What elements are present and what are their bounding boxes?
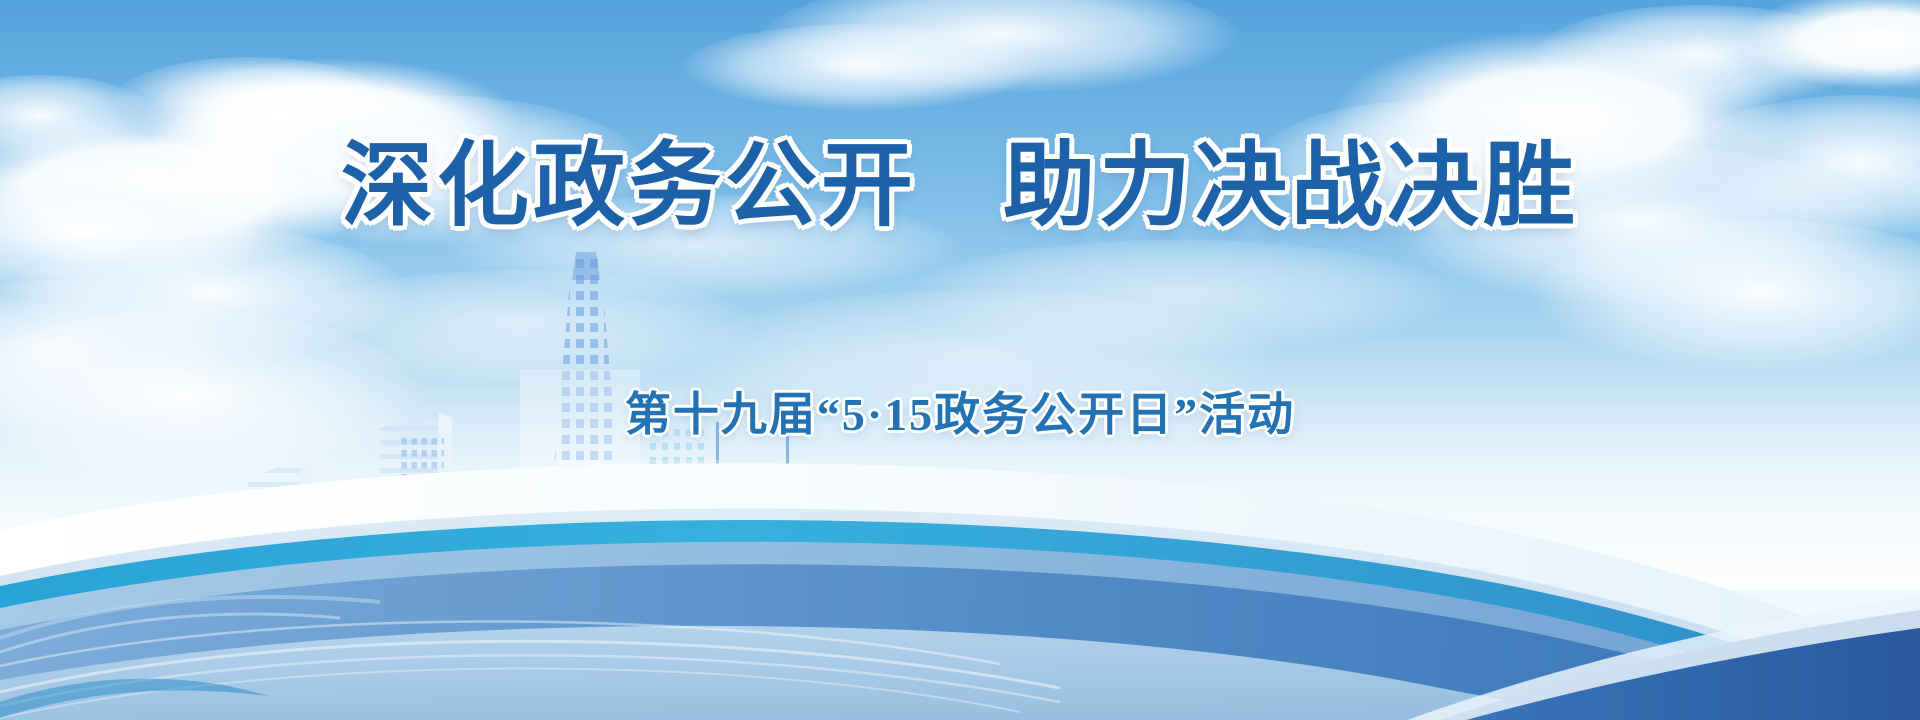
page-subtitle: 第十九届“5·15政务公开日”活动	[0, 378, 1920, 444]
banner-root: 深化政务公开助力决战决胜 第十九届“5·15政务公开日”活动	[0, 0, 1920, 720]
headline-line-1: 深化政务公开	[341, 135, 917, 237]
page-title: 深化政务公开助力决战决胜	[0, 138, 1920, 235]
headline-line-2: 助力决战决胜	[1003, 135, 1579, 237]
cloud-top-center	[680, 0, 1240, 116]
